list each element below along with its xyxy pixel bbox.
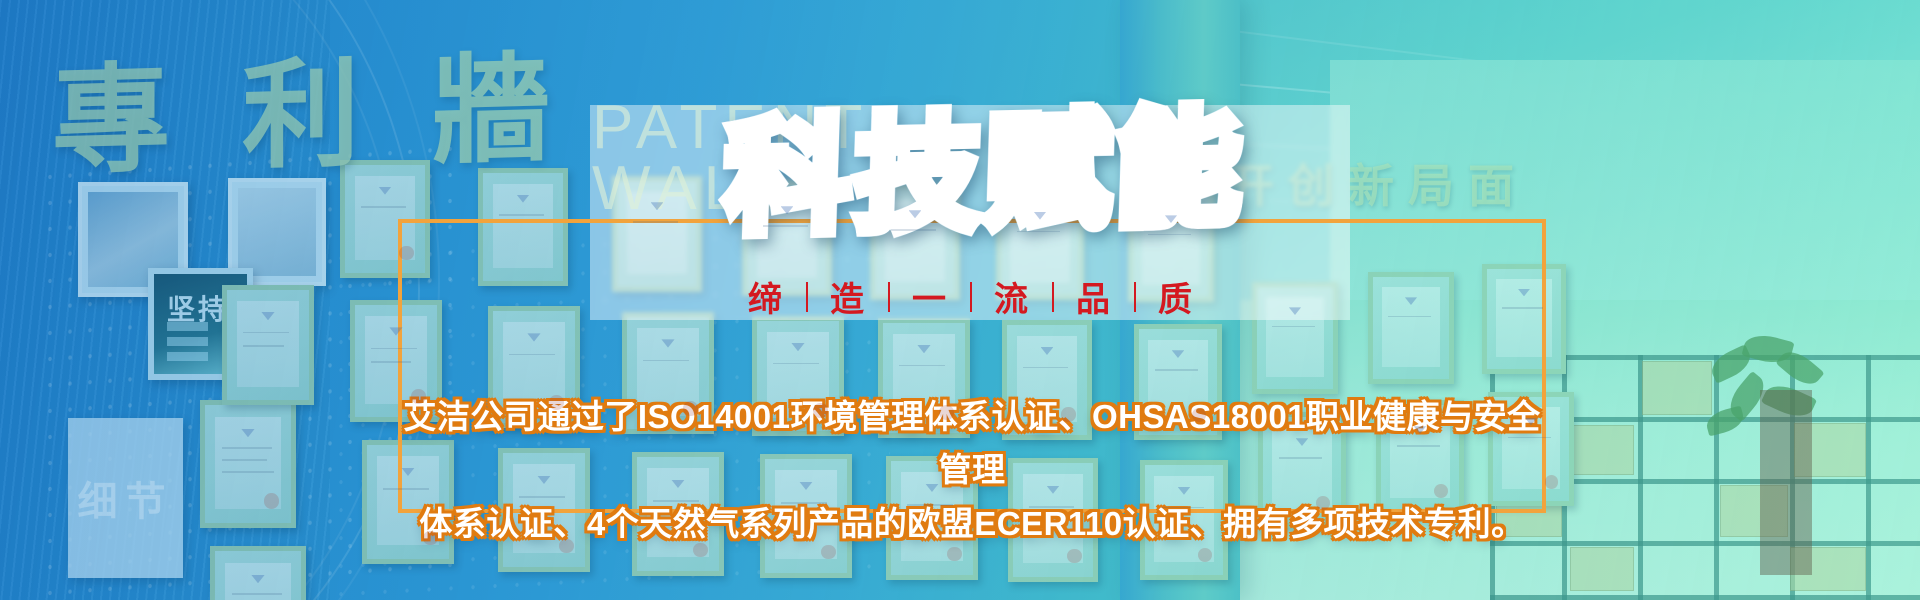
banner-title: 科技赋能 [724,107,1248,242]
banner-stage: 坚持 细节 [0,0,1920,600]
subtitle-char: 品 [1054,272,1134,321]
subtitle-char: 造 [808,272,888,321]
banner-body-text: 艾洁公司通过了ISO14001环境管理体系认证、OHSAS18001职业健康与安… [398,390,1546,550]
subtitle-char: 一 [890,272,970,321]
banner-subtitle: 缔 造 一 流 品 质 [726,272,1216,321]
subtitle-char: 质 [1136,272,1216,321]
body-line-1: 艾洁公司通过了ISO14001环境管理体系认证、OHSAS18001职业健康与安… [398,390,1546,497]
subtitle-char: 缔 [726,272,806,321]
subtitle-char: 流 [972,272,1052,321]
